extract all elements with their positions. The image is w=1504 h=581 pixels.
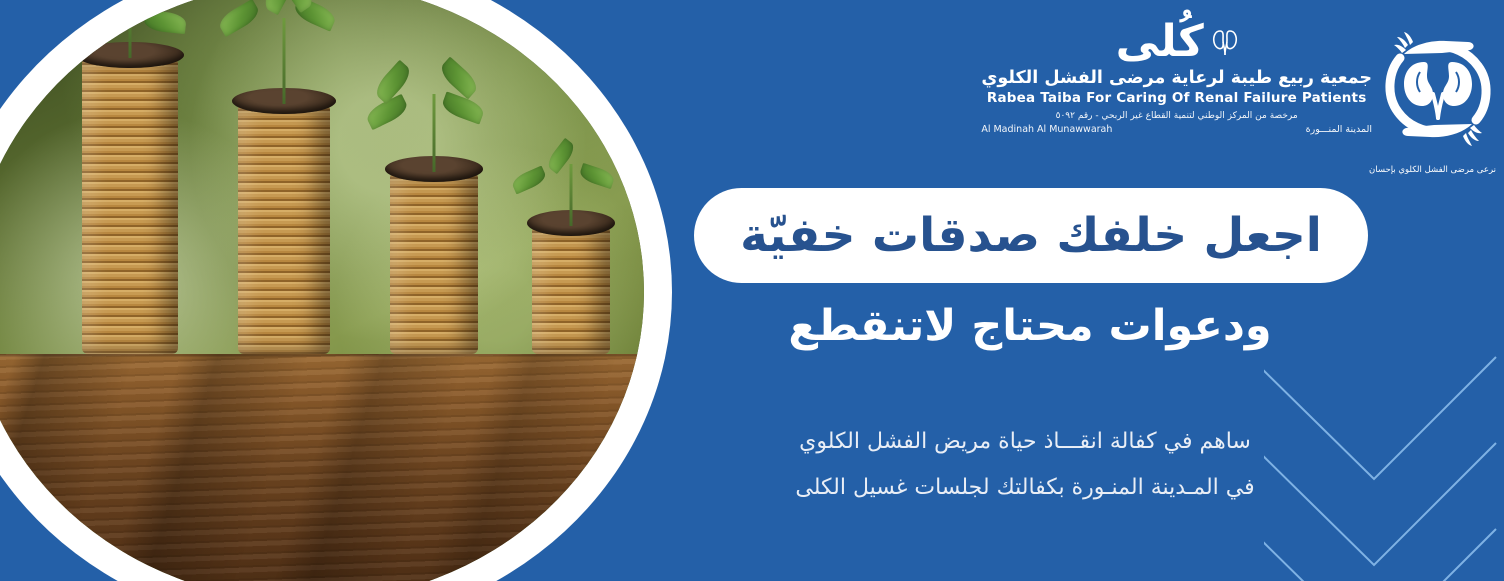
- coin-stack-4-stem: [570, 164, 573, 226]
- coin-stack-4: [532, 226, 610, 354]
- coin-stack-2: [238, 104, 330, 354]
- coin-stack-3-coins: [390, 172, 478, 354]
- licence-line: مرخصة من المركز الوطني لتنمية القطاع غير…: [981, 111, 1372, 121]
- city-row: المدينة المنـــورة Al Madinah Al Munawwa…: [981, 124, 1372, 135]
- city-name-arabic: المدينة المنـــورة: [1306, 124, 1372, 135]
- coin-stack-4-coins: [532, 226, 610, 354]
- body-copy: ساهم في كفالة انقـــاذ حياة مريض الفشل ا…: [680, 430, 1370, 522]
- logo-wordmark: كُلى: [1116, 20, 1204, 64]
- banner-content-column: نرعى مرضى الفشل الكلوي بإحسان كُلى: [680, 0, 1504, 581]
- headline-pill: اجعل خلفك صدقات خفيّة: [694, 188, 1368, 283]
- photo-table-shadows: [0, 354, 644, 581]
- body-line-2: في المـدينة المنـورة بكفالتك لجلسات غسيل…: [680, 476, 1370, 500]
- photo-circle-frame: [0, 0, 672, 581]
- city-name-english: Al Madinah Al Munawwarah: [981, 124, 1112, 135]
- kidneys-in-hands-emblem-icon: نرعى مرضى الفشل الكلوي بإحسان: [1380, 14, 1496, 182]
- kidney-glyph-icon: [1212, 27, 1238, 57]
- coin-stack-1: [82, 58, 178, 354]
- coin-stack-2-coins: [238, 104, 330, 354]
- headline-line-1: اجعل خلفك صدقات خفيّة: [740, 212, 1322, 259]
- coin-stack-1-coins: [82, 58, 178, 354]
- coin-stack-3: [390, 172, 478, 354]
- emblem-tagline: نرعى مرضى الفشل الكلوي بإحسان: [1380, 166, 1496, 175]
- charity-donation-banner: نرعى مرضى الفشل الكلوي بإحسان كُلى: [0, 0, 1504, 581]
- logo-text-lockup: كُلى جمعية ربيع طيبة لرعاية مرضى الفشل ا…: [981, 14, 1372, 135]
- coin-stack-2-stem: [283, 18, 286, 104]
- headline-line-2: ودعوات محتاج لاتنقطع: [680, 305, 1380, 348]
- org-name-english: Rabea Taiba For Caring Of Renal Failure …: [981, 90, 1372, 106]
- org-name-arabic: جمعية ربيع طيبة لرعاية مرضى الفشل الكلوي: [981, 68, 1372, 88]
- coin-stack-3-stem: [433, 94, 436, 172]
- coin-stacks-with-plants-photo: [0, 0, 644, 581]
- body-line-1: ساهم في كفالة انقـــاذ حياة مريض الفشل ا…: [680, 430, 1370, 454]
- organization-logo-block: نرعى مرضى الفشل الكلوي بإحسان كُلى: [981, 14, 1496, 182]
- coin-stack-1-stem: [129, 0, 132, 58]
- wordmark-row: كُلى: [981, 20, 1372, 64]
